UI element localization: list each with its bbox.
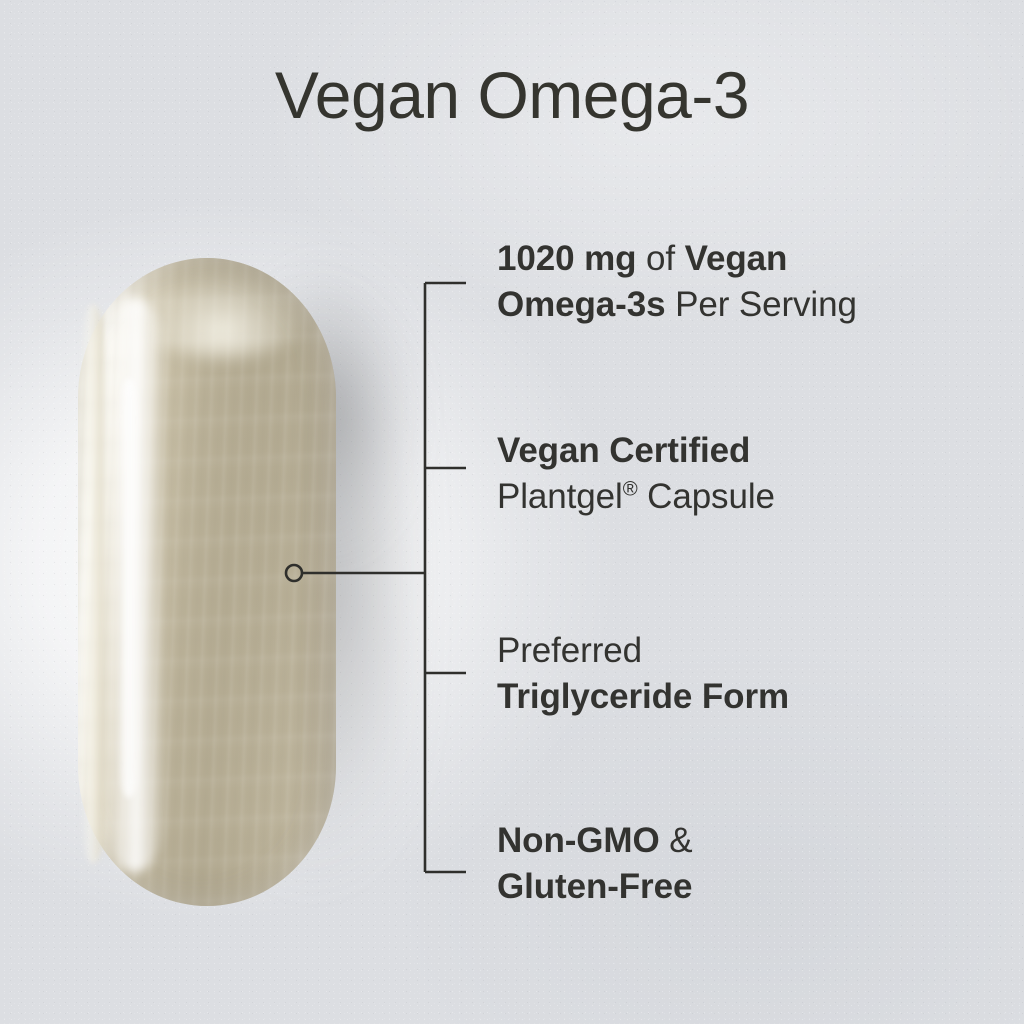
callout-line: Gluten-Free	[497, 864, 692, 910]
callout-text: of	[646, 239, 685, 278]
callout-line: Preferred	[497, 628, 789, 674]
callout-emphasis: Vegan	[685, 239, 788, 278]
callout-emphasis: Omega-3s	[497, 285, 675, 324]
callout-dose: 1020 mg of VeganOmega-3s Per Serving	[497, 236, 857, 328]
callout-emphasis: Vegan Certified	[497, 431, 750, 470]
callout-capsule: Vegan CertifiedPlantgel® Capsule	[497, 428, 775, 520]
callout-line: Non-GMO &	[497, 818, 692, 864]
callout-emphasis: 1020 mg	[497, 239, 646, 278]
callout-line: Plantgel® Capsule	[497, 474, 775, 520]
callout-text: Plantgel	[497, 477, 623, 516]
callout-form: PreferredTriglyceride Form	[497, 628, 789, 720]
callout-text: &	[669, 821, 692, 860]
callout-purity: Non-GMO &Gluten-Free	[497, 818, 692, 910]
callout-line: Vegan Certified	[497, 428, 775, 474]
callout-line: Omega-3s Per Serving	[497, 282, 857, 328]
product-infographic: Vegan Omega-3 1020 mg	[0, 0, 1024, 1024]
callout-line: 1020 mg of Vegan	[497, 236, 857, 282]
callout-text: Preferred	[497, 631, 642, 670]
callout-emphasis: Non-GMO	[497, 821, 669, 860]
capsule-anchor-dot	[286, 565, 302, 581]
registered-trademark-symbol: ®	[623, 478, 638, 500]
callout-emphasis: Triglyceride Form	[497, 677, 789, 716]
callout-text: Capsule	[638, 477, 775, 516]
callout-line: Triglyceride Form	[497, 674, 789, 720]
callout-emphasis: Gluten-Free	[497, 867, 692, 906]
callout-text: Per Serving	[675, 285, 857, 324]
